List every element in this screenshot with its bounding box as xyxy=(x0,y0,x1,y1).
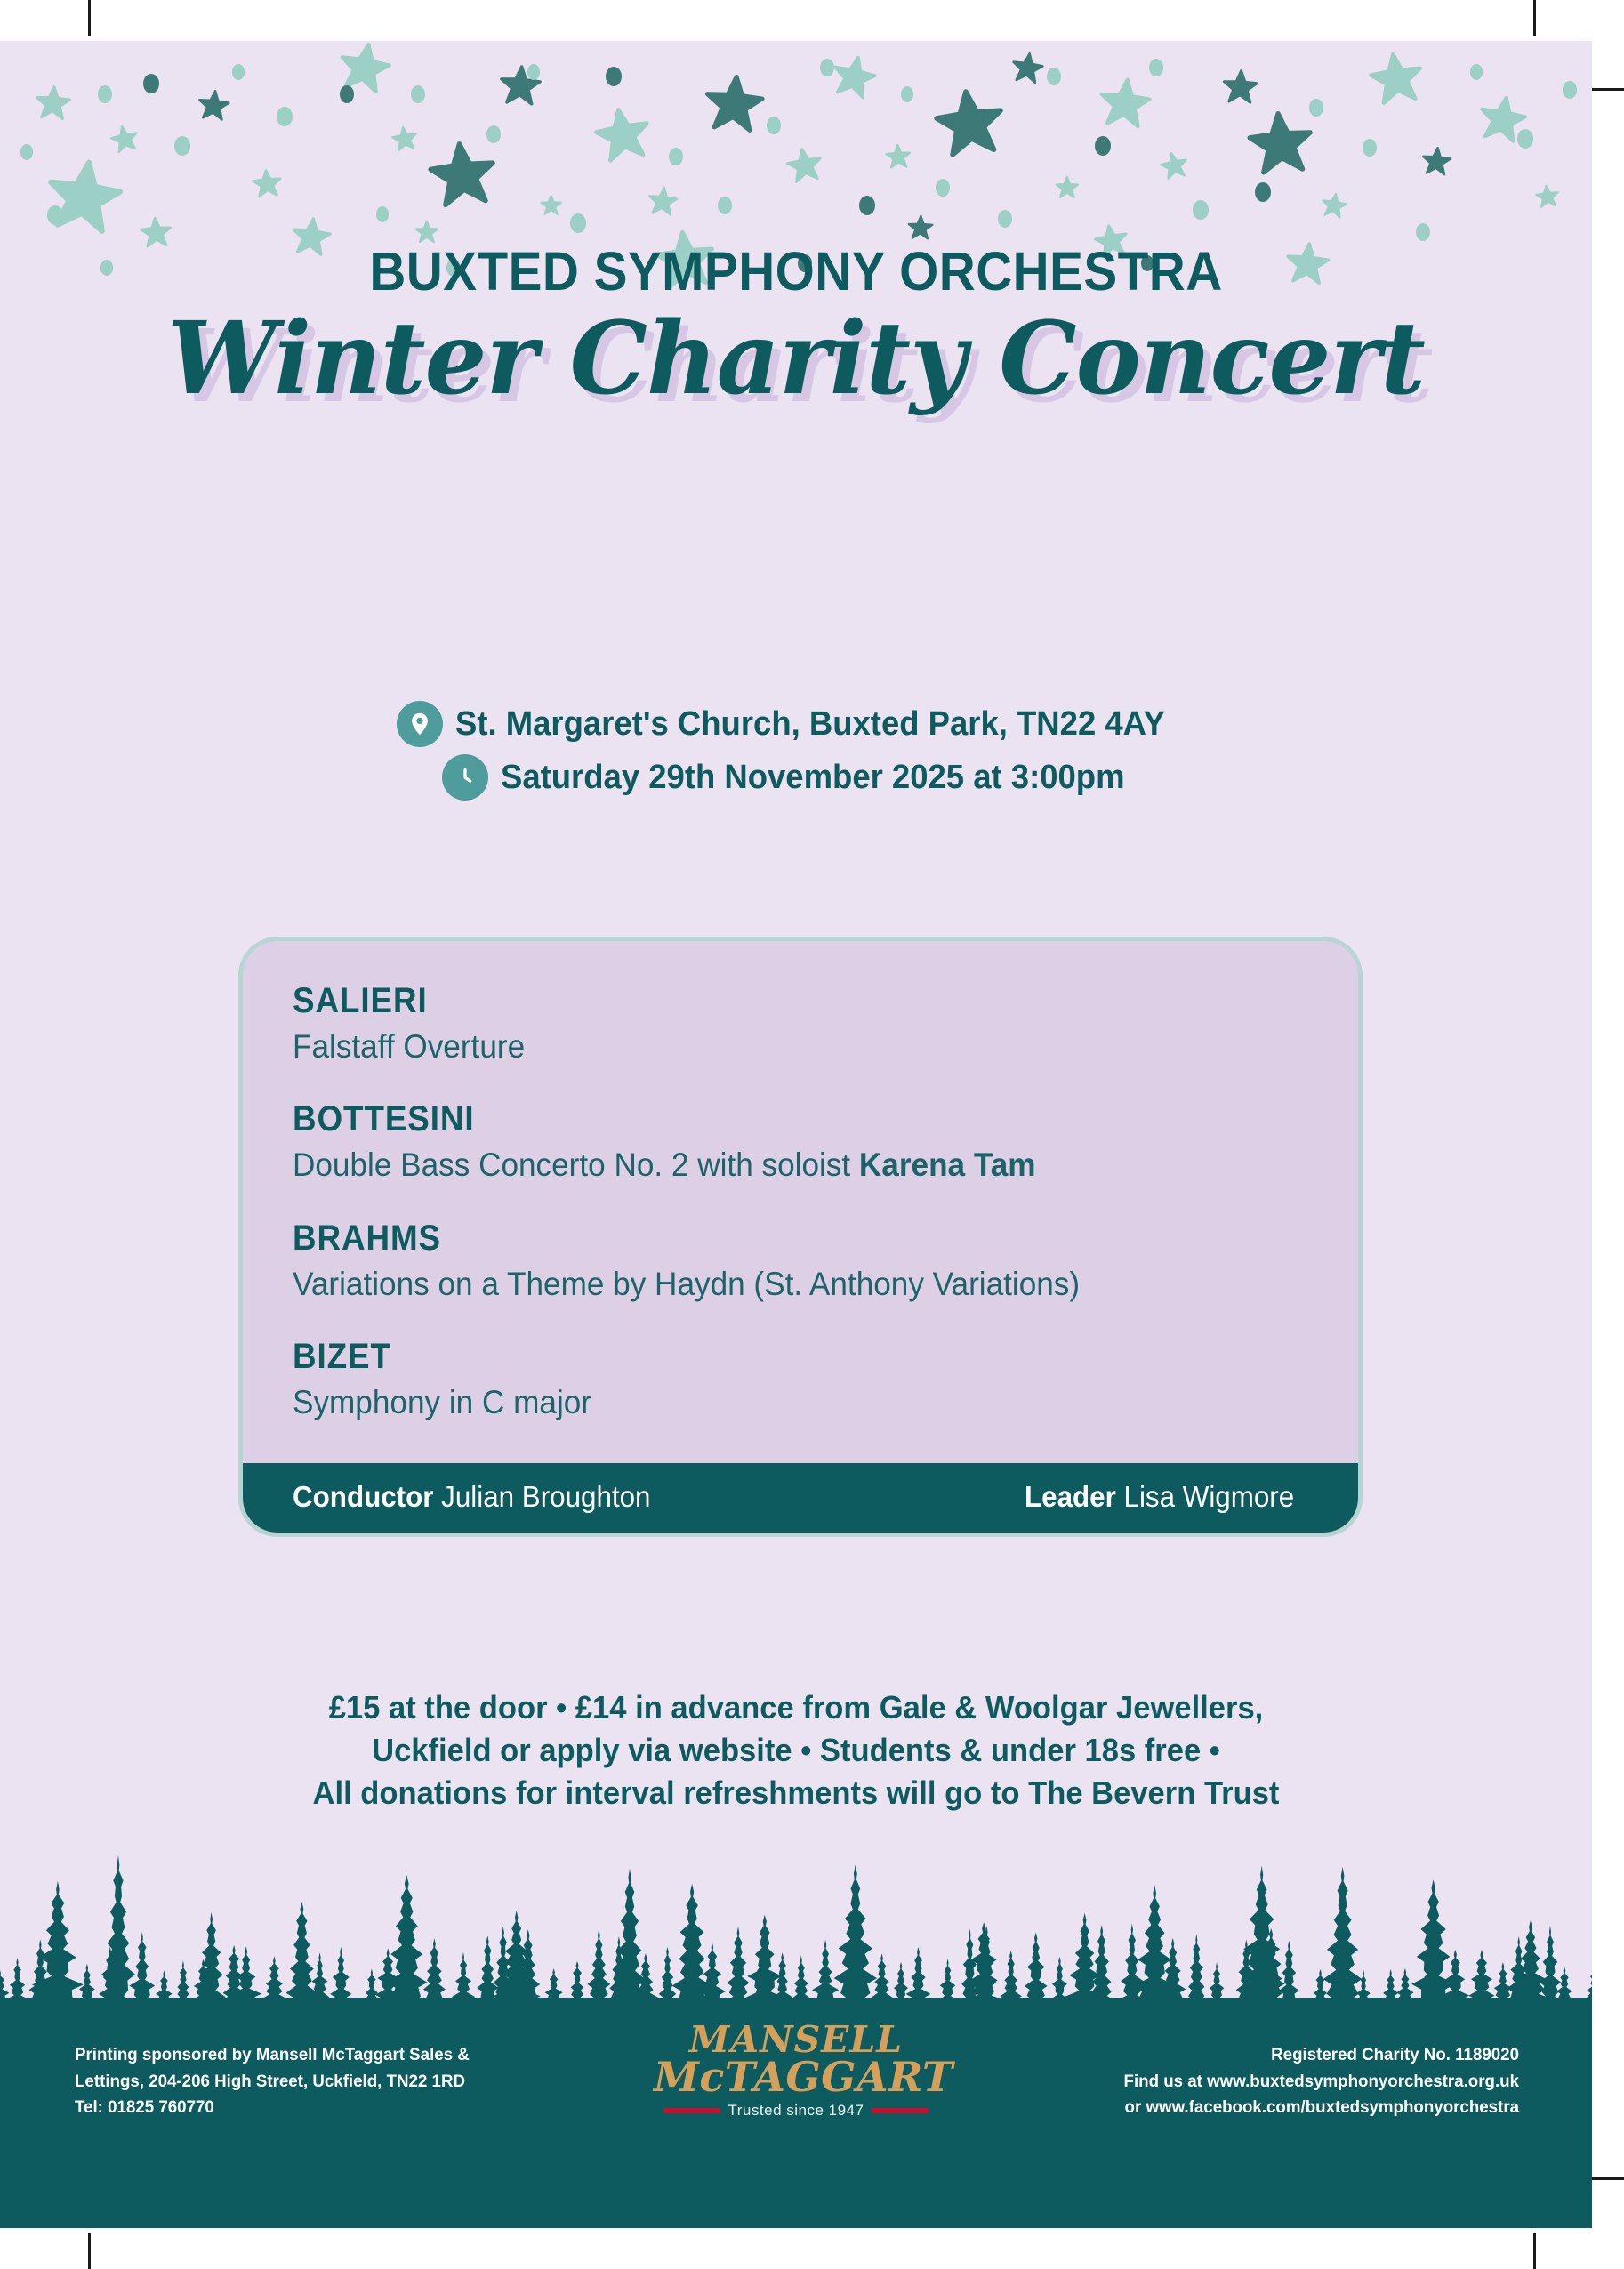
leader-label: Leader xyxy=(1025,1480,1116,1513)
dot-shape xyxy=(98,85,112,103)
dot-shape xyxy=(901,86,913,102)
event-details: St. Margaret's Church, Buxted Park, TN22… xyxy=(0,701,1592,808)
star-shape xyxy=(1419,144,1452,177)
credits-bar: Conductor Julian Broughton Leader Lisa W… xyxy=(243,1463,1358,1533)
logo-rule-right xyxy=(872,2108,929,2113)
star-shape xyxy=(646,184,679,218)
soloist-name: Karena Tam xyxy=(859,1147,1036,1183)
pricing-line-3: All donations for interval refreshments … xyxy=(32,1772,1560,1814)
programme-item: BIZETSymphony in C major xyxy=(293,1336,1308,1424)
dot-shape xyxy=(47,205,63,226)
composer-name: BIZET xyxy=(293,1336,1227,1378)
dot-shape xyxy=(570,213,586,234)
dot-shape xyxy=(767,117,781,134)
crop-mark-bottom-right-horizontal xyxy=(1588,2177,1624,2180)
charity-line-1: Registered Charity No. 1189020 xyxy=(1124,2042,1519,2069)
dot-shape xyxy=(486,125,501,143)
work-title: Variations on a Theme by Haydn (St. Anth… xyxy=(293,1263,1258,1306)
crop-mark-bottom-right-vertical xyxy=(1533,2233,1536,2269)
event-title: Winter Charity Concert xyxy=(16,301,1576,417)
logo-line-2: McTAGGART xyxy=(654,2057,938,2097)
dot-shape xyxy=(1470,64,1483,80)
work-title: Symphony in C major xyxy=(293,1381,1258,1424)
star-shape xyxy=(1244,107,1317,180)
dot-shape xyxy=(411,85,425,103)
star-shape xyxy=(1055,175,1080,200)
dot-shape xyxy=(718,197,732,214)
star-shape xyxy=(424,136,501,213)
dot-shape xyxy=(606,67,622,87)
crop-mark-top-right-horizontal xyxy=(1588,88,1624,91)
star-shape xyxy=(590,101,656,168)
dot-shape xyxy=(527,64,540,80)
conductor-credit: Conductor Julian Broughton xyxy=(293,1480,650,1514)
pricing-line-2: Uckfield or apply via website • Students… xyxy=(32,1729,1560,1772)
poster-canvas: BUXTED SYMPHONY ORCHESTRA Winter Charity… xyxy=(0,0,1624,2269)
dot-shape xyxy=(1309,99,1323,117)
sponsor-info: Printing sponsored by Mansell McTaggart … xyxy=(75,2042,470,2121)
dot-shape xyxy=(859,196,875,216)
venue-text: St. Margaret's Church, Buxted Park, TN22… xyxy=(455,705,1165,744)
dot-shape xyxy=(1047,68,1061,85)
poster-page: BUXTED SYMPHONY ORCHESTRA Winter Charity… xyxy=(0,41,1592,2228)
ticket-pricing: £15 at the door • £14 in advance from Ga… xyxy=(32,1686,1560,1815)
dot-shape xyxy=(143,74,159,94)
star-shape xyxy=(1009,49,1046,86)
programme-list: SALIERIFalstaff OvertureBOTTESINIDouble … xyxy=(243,941,1358,1463)
work-title: Double Bass Concerto No. 2 with soloist … xyxy=(293,1144,1258,1187)
programme-item: SALIERIFalstaff Overture xyxy=(293,980,1308,1068)
dot-shape xyxy=(277,107,293,127)
dot-shape xyxy=(20,144,33,160)
dot-shape xyxy=(1095,136,1111,157)
star-shape xyxy=(34,84,73,123)
logo-tagline: Trusted since 1947 xyxy=(728,2102,864,2120)
location-pin-icon xyxy=(397,701,443,747)
star-shape xyxy=(907,214,935,242)
conductor-label: Conductor xyxy=(293,1480,433,1513)
logo-tagline-row: Trusted since 1947 xyxy=(654,2102,938,2120)
crop-mark-top-right-vertical xyxy=(1533,0,1536,36)
star-shape xyxy=(1365,47,1427,109)
crop-mark-bottom-left-vertical xyxy=(88,2233,91,2269)
composer-name: BOTTESINI xyxy=(293,1098,1227,1140)
composer-name: BRAHMS xyxy=(293,1218,1227,1259)
star-shape xyxy=(1221,68,1260,107)
dot-shape xyxy=(1193,200,1209,221)
charity-line-2[interactable]: Find us at www.buxtedsymphonyorchestra.o… xyxy=(1124,2069,1519,2096)
dot-shape xyxy=(340,85,354,103)
star-shape xyxy=(540,194,562,216)
star-shape xyxy=(884,142,912,170)
dot-shape xyxy=(936,179,950,197)
programme-item: BRAHMSVariations on a Theme by Haydn (St… xyxy=(293,1218,1308,1306)
star-shape xyxy=(41,153,129,241)
dot-shape xyxy=(174,136,190,157)
leader-credit: Leader Lisa Wigmore xyxy=(1025,1480,1294,1514)
dot-shape xyxy=(232,64,245,80)
charity-info: Registered Charity No. 1189020 Find us a… xyxy=(1124,2042,1519,2121)
programme-item: BOTTESINIDouble Bass Concerto No. 2 with… xyxy=(293,1098,1308,1187)
composer-name: SALIERI xyxy=(293,980,1227,1022)
star-shape xyxy=(1157,149,1191,182)
star-shape xyxy=(827,50,880,103)
star-shape xyxy=(250,166,283,199)
sponsor-line-2: Lettings, 204-206 High Street, Uckfield,… xyxy=(75,2069,470,2096)
dot-shape xyxy=(1517,129,1533,149)
programme-card: SALIERIFalstaff OvertureBOTTESINIDouble … xyxy=(238,937,1363,1537)
logo-rule-left xyxy=(663,2108,720,2113)
charity-line-3[interactable]: or www.facebook.com/buxtedsymphonyorches… xyxy=(1124,2095,1519,2121)
pricing-line-1: £15 at the door • £14 in advance from Ga… xyxy=(32,1686,1560,1729)
datetime-line: Saturday 29th November 2025 at 3:00pm xyxy=(0,754,1592,801)
work-title: Falstaff Overture xyxy=(293,1026,1258,1068)
star-shape xyxy=(701,70,768,137)
star-shape xyxy=(108,122,141,156)
dot-shape xyxy=(1416,223,1430,241)
datetime-text: Saturday 29th November 2025 at 3:00pm xyxy=(501,759,1125,797)
dot-shape xyxy=(1255,182,1271,203)
dot-shape xyxy=(1149,59,1163,76)
sponsor-line-3: Tel: 01825 760770 xyxy=(75,2095,470,2121)
organisation-title: BUXTED SYMPHONY ORCHESTRA xyxy=(56,240,1537,302)
venue-line: St. Margaret's Church, Buxted Park, TN22… xyxy=(0,701,1592,747)
dot-shape xyxy=(1363,139,1377,157)
sponsor-line-1: Printing sponsored by Mansell McTaggart … xyxy=(75,2042,470,2069)
star-shape xyxy=(1319,190,1349,221)
star-shape xyxy=(784,144,825,186)
dot-shape xyxy=(1563,81,1577,99)
conductor-name: Julian Broughton xyxy=(433,1480,650,1513)
dot-shape xyxy=(376,206,389,222)
clock-icon xyxy=(442,754,488,801)
dot-shape xyxy=(820,59,834,76)
star-shape xyxy=(929,83,1009,163)
star-shape xyxy=(1096,74,1154,133)
star-shape xyxy=(390,124,420,154)
pine-forest-silhouette xyxy=(0,1823,1592,2050)
star-shape xyxy=(196,87,231,123)
leader-name: Lisa Wigmore xyxy=(1116,1480,1294,1513)
dot-shape xyxy=(998,210,1012,228)
mansell-mctaggart-logo: MANSELL McTAGGART Trusted since 1947 xyxy=(654,2023,938,2120)
star-shape xyxy=(1534,183,1561,210)
dot-shape xyxy=(669,148,683,165)
crop-mark-top-left-vertical xyxy=(88,0,91,36)
